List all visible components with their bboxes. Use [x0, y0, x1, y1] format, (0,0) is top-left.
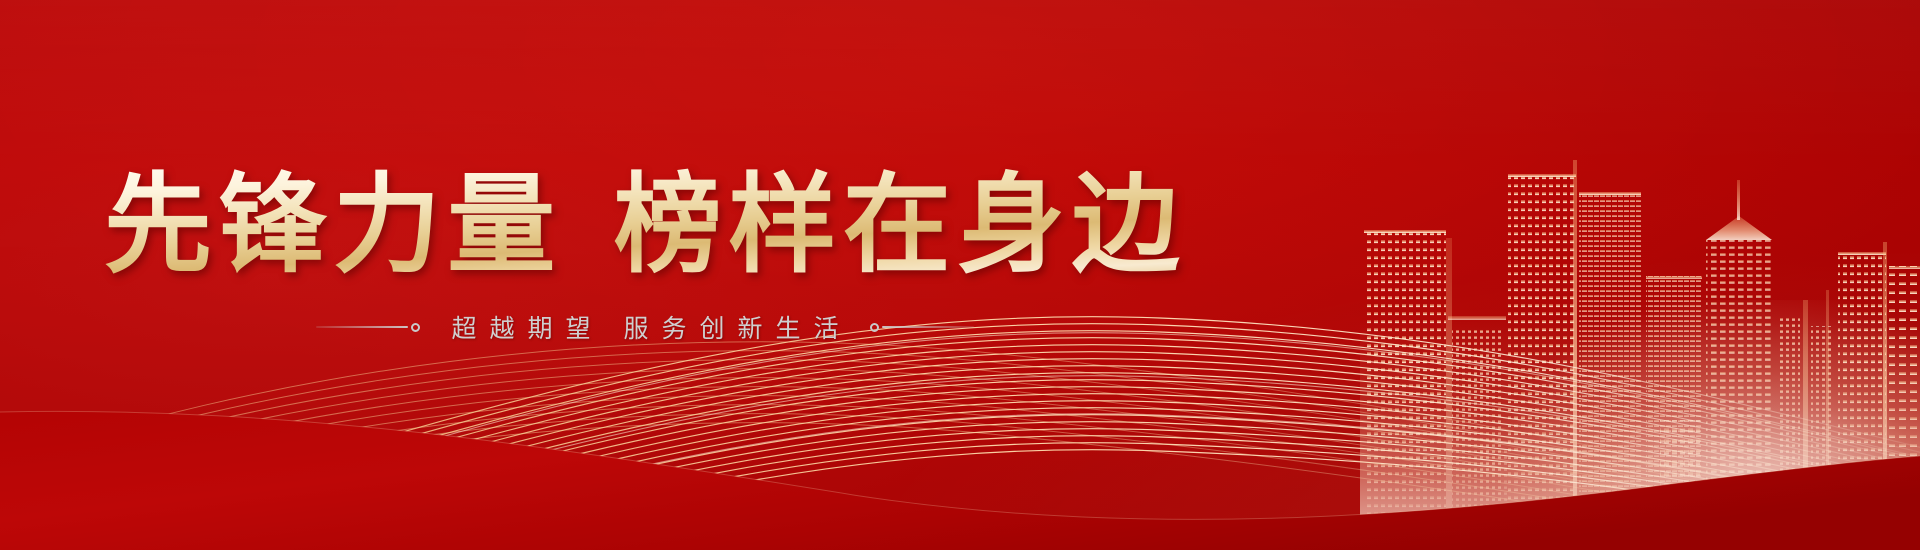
- page-subtitle: 超越期望 服务创新生活: [439, 309, 852, 345]
- subtitle-left-decoration: [316, 323, 423, 332]
- promotional-banner: 先锋力量 榜样在身边 超越期望 服务创新生活: [0, 0, 1920, 550]
- title-segment-secondary: 榜样在身边: [614, 167, 1186, 284]
- right-rule-icon: [882, 326, 974, 328]
- subtitle-right-decoration: [867, 323, 974, 332]
- right-circle-icon: [870, 323, 879, 332]
- page-title: 先锋力量 榜样在身边: [104, 167, 1186, 284]
- title-segment-primary: 先锋力量: [104, 167, 562, 284]
- left-circle-icon: [411, 323, 420, 332]
- left-rule-icon: [316, 326, 408, 328]
- subtitle-row: 超越期望 服务创新生活: [316, 309, 975, 345]
- headline-block: 先锋力量 榜样在身边 超越期望 服务创新生活: [0, 0, 1290, 550]
